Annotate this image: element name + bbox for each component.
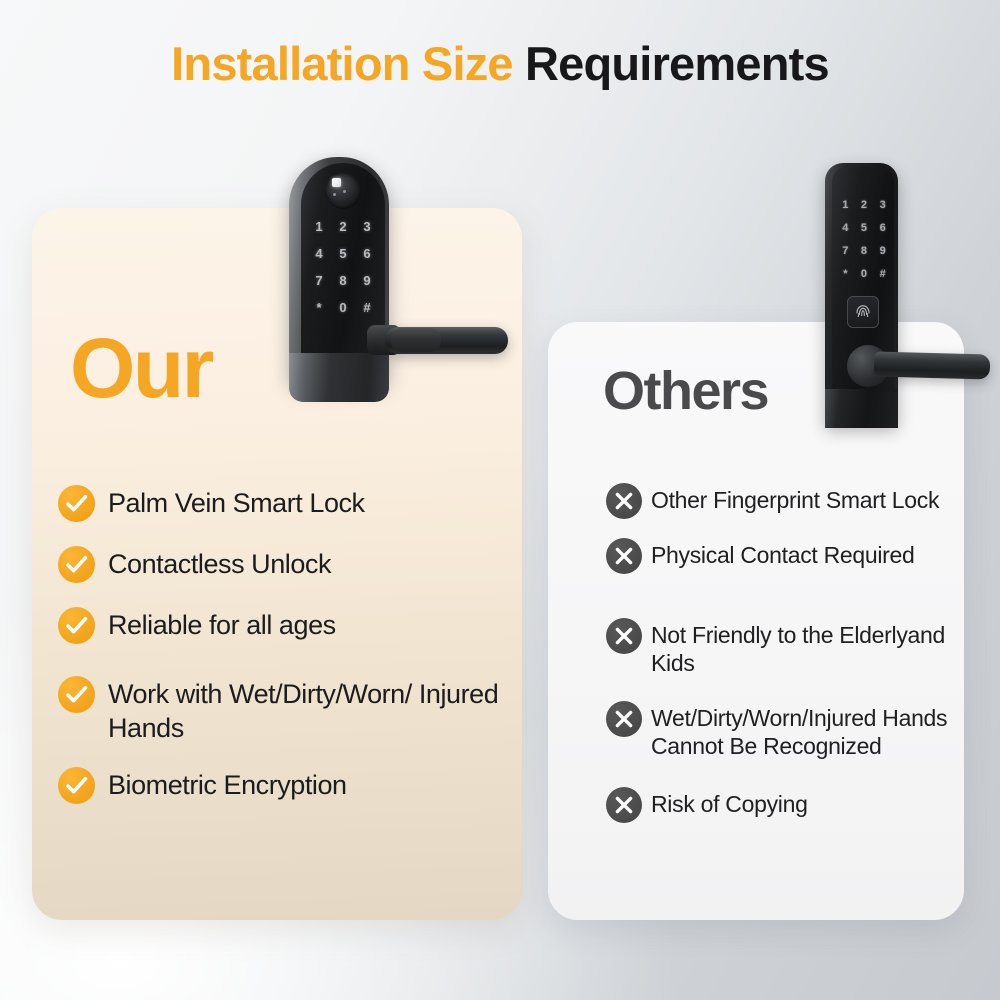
- lock-lower-body: [289, 353, 389, 402]
- cross-circle-icon: [606, 701, 642, 737]
- keypad-key: 5: [331, 246, 355, 261]
- list-item-label: Biometric Encryption: [108, 766, 347, 802]
- keypad-key: 4: [836, 222, 855, 234]
- keypad-key: 0: [855, 268, 874, 280]
- list-item: Risk of Copying: [606, 786, 956, 823]
- our-feature-list: Palm Vein Smart Lock Contactless Unlock …: [58, 484, 508, 827]
- our-card-heading: Our: [70, 320, 212, 417]
- sensor-led-icon: [343, 190, 346, 193]
- check-circle-icon: [58, 767, 95, 804]
- lock-keypad: 1 2 3 4 5 6 7 8 9 * 0 #: [836, 199, 892, 280]
- check-circle-icon: [58, 676, 95, 713]
- keypad-key: 7: [836, 245, 855, 257]
- list-item: Other Fingerprint Smart Lock: [606, 482, 956, 519]
- cross-circle-icon: [606, 787, 642, 823]
- list-item: Wet/Dirty/Worn/Injured Hands Cannot Be R…: [606, 700, 956, 761]
- keypad-key: 1: [307, 219, 331, 234]
- keypad-key: 4: [307, 246, 331, 261]
- list-item: Reliable for all ages: [58, 606, 508, 644]
- list-item-label: Physical Contact Required: [651, 537, 915, 569]
- palm-vein-smart-lock-image: 1 2 3 4 5 6 7 8 9 * 0 #: [283, 157, 513, 402]
- lock-lower-body: [825, 389, 898, 428]
- list-item-label: Other Fingerprint Smart Lock: [651, 482, 939, 514]
- page-title-plain: Requirements: [513, 37, 829, 90]
- fingerprint-sensor-icon: [847, 296, 879, 328]
- keypad-key: 2: [331, 219, 355, 234]
- list-item-label: Wet/Dirty/Worn/Injured Hands Cannot Be R…: [651, 700, 956, 761]
- list-item-label: Reliable for all ages: [108, 606, 336, 642]
- others-card-heading: Others: [603, 360, 768, 422]
- list-item: Work with Wet/Dirty/Worn/ Injured Hands: [58, 675, 508, 745]
- list-item: Not Friendly to the Elderlyand Kids: [606, 617, 956, 678]
- list-item-label: Risk of Copying: [651, 786, 808, 818]
- check-circle-icon: [58, 607, 95, 644]
- keypad-key: 8: [331, 273, 355, 288]
- others-feature-list: Other Fingerprint Smart Lock Physical Co…: [606, 482, 956, 841]
- keypad-key: 3: [873, 199, 892, 211]
- keypad-key: 6: [355, 246, 379, 261]
- cross-circle-icon: [606, 538, 642, 574]
- keypad-key: *: [836, 268, 855, 280]
- list-item: Biometric Encryption: [58, 766, 508, 804]
- keypad-key: *: [307, 300, 331, 315]
- camera-lens-icon: [332, 178, 341, 187]
- fingerprint-smart-lock-image: 1 2 3 4 5 6 7 8 9 * 0 #: [818, 163, 1000, 428]
- sensor-led-icon: [333, 193, 336, 196]
- keypad-key: #: [873, 268, 892, 280]
- keypad-key: 2: [855, 199, 874, 211]
- comparison-infographic: Installation Size Requirements Our 1 2 3…: [0, 0, 1000, 1000]
- keypad-key: 8: [855, 245, 874, 257]
- lock-handle-pad: [391, 328, 441, 352]
- keypad-key: 1: [836, 199, 855, 211]
- cross-circle-icon: [606, 483, 642, 519]
- list-item-label: Not Friendly to the Elderlyand Kids: [651, 617, 956, 678]
- lock-keypad: 1 2 3 4 5 6 7 8 9 * 0 #: [307, 219, 379, 315]
- list-item: Contactless Unlock: [58, 545, 508, 583]
- keypad-key: 9: [355, 273, 379, 288]
- cross-circle-icon: [606, 618, 642, 654]
- keypad-key: 9: [873, 245, 892, 257]
- keypad-key: 5: [855, 222, 874, 234]
- lock-handle: [874, 351, 991, 379]
- list-item-label: Contactless Unlock: [108, 545, 331, 581]
- list-item: Physical Contact Required: [606, 537, 956, 574]
- check-circle-icon: [58, 546, 95, 583]
- list-item-label: Work with Wet/Dirty/Worn/ Injured Hands: [108, 675, 508, 745]
- list-item-label: Palm Vein Smart Lock: [108, 484, 365, 520]
- keypad-key: 7: [307, 273, 331, 288]
- keypad-key: #: [355, 300, 379, 315]
- page-title: Installation Size Requirements: [0, 36, 1000, 91]
- page-title-accent: Installation Size: [171, 37, 513, 90]
- keypad-key: 3: [355, 219, 379, 234]
- list-item: Palm Vein Smart Lock: [58, 484, 508, 522]
- keypad-key: 0: [331, 300, 355, 315]
- check-circle-icon: [58, 485, 95, 522]
- keypad-key: 6: [873, 222, 892, 234]
